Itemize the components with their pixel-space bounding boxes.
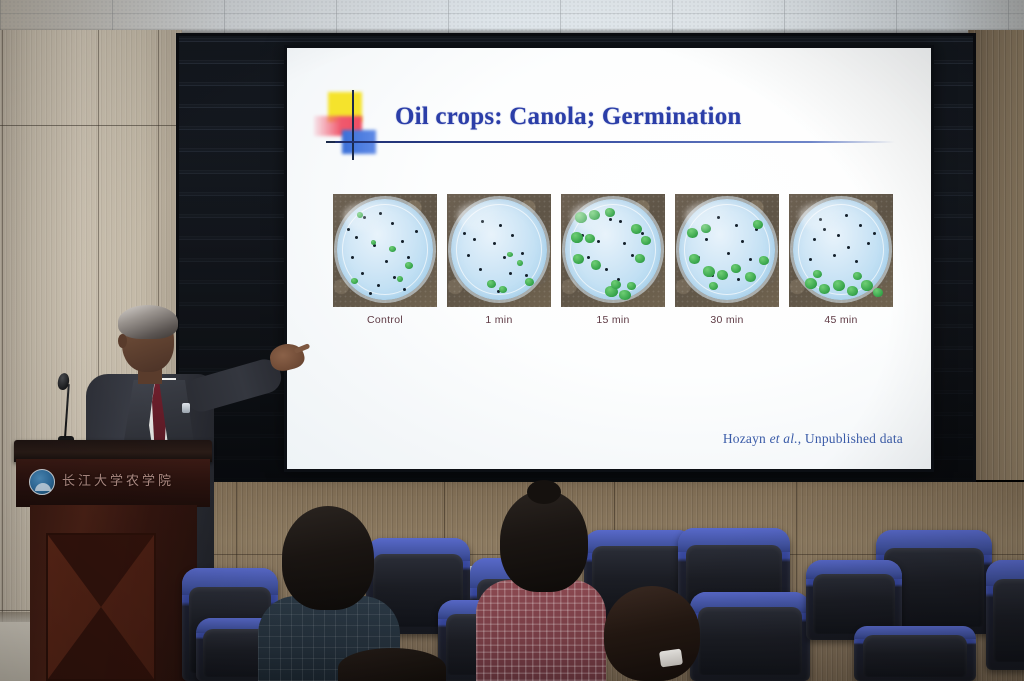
petri-dish-caption: 45 min (789, 314, 893, 326)
audience-member-checked-head (500, 490, 588, 592)
petri-dish-cell: 1 min (447, 194, 551, 334)
citation-rest: , Unpublished data (798, 431, 903, 446)
speaker-raised-arm (181, 356, 285, 416)
citation-etal: et al. (770, 431, 798, 446)
podium-inlay-panel (46, 533, 156, 681)
audience-member-hair-bun (527, 480, 561, 504)
petri-dish-figure-row: Control (333, 194, 893, 334)
audience-member-checked-body (476, 580, 606, 681)
petri-dish-photo-45min (789, 194, 893, 307)
slide-citation: Hozayn et al., Unpublished data (723, 431, 903, 447)
auditorium-seat[interactable] (854, 626, 976, 681)
speaker-name-badge (182, 403, 190, 413)
audience-member-front-row-head (338, 648, 446, 681)
audience-member-long-hair-head (604, 586, 700, 681)
presentation-slide: Oil crops: Canola; Germination (287, 48, 931, 469)
petri-dish-cell: 15 min (561, 194, 665, 334)
petri-dish-caption: 30 min (675, 314, 779, 326)
plate-glare (571, 201, 628, 233)
audience-member-device (659, 649, 683, 668)
seat-back-pad (698, 607, 801, 675)
speaker-hair (118, 305, 178, 339)
speaker-ear (118, 334, 127, 348)
auditorium-seat[interactable] (986, 560, 1024, 670)
auditorium-seat[interactable] (690, 592, 810, 681)
right-wall-panel (968, 30, 1024, 480)
petri-dish-photo-15min (561, 194, 665, 307)
wall-seam (0, 125, 182, 126)
petri-dish-photo-1min (447, 194, 551, 307)
petri-dish-cell: Control (333, 194, 437, 334)
petri-dish-caption: 15 min (561, 314, 665, 326)
lecture-hall-photo: Oil crops: Canola; Germination (0, 0, 1024, 681)
plate-glare (457, 201, 514, 233)
petri-dish-cell: 45 min (789, 194, 893, 334)
university-emblem (29, 469, 55, 495)
petri-dish-cell: 30 min (675, 194, 779, 334)
title-underline (335, 141, 895, 143)
petri-dish-photo-control (333, 194, 437, 307)
seat-back-pad (863, 635, 968, 677)
petri-dish-caption: Control (333, 314, 437, 326)
seat-back-pad (993, 579, 1024, 663)
slide-title: Oil crops: Canola; Germination (395, 103, 895, 131)
audience-member-plaid-head (282, 506, 374, 610)
citation-author: Hozayn (723, 431, 766, 446)
plate-glare (799, 201, 856, 233)
wall-seam (796, 482, 797, 602)
plate-glare (685, 201, 742, 233)
petri-dish-caption: 1 min (447, 314, 551, 326)
wall-seam (2, 30, 3, 650)
slide-decoration-color-blocks (314, 90, 390, 160)
wall-grain-texture (968, 30, 1024, 480)
podium-institution-text: 长江大学农学院 (62, 470, 188, 492)
vertical-rule-icon (352, 90, 354, 160)
plate-glare (343, 201, 400, 233)
petri-dish-photo-30min (675, 194, 779, 307)
